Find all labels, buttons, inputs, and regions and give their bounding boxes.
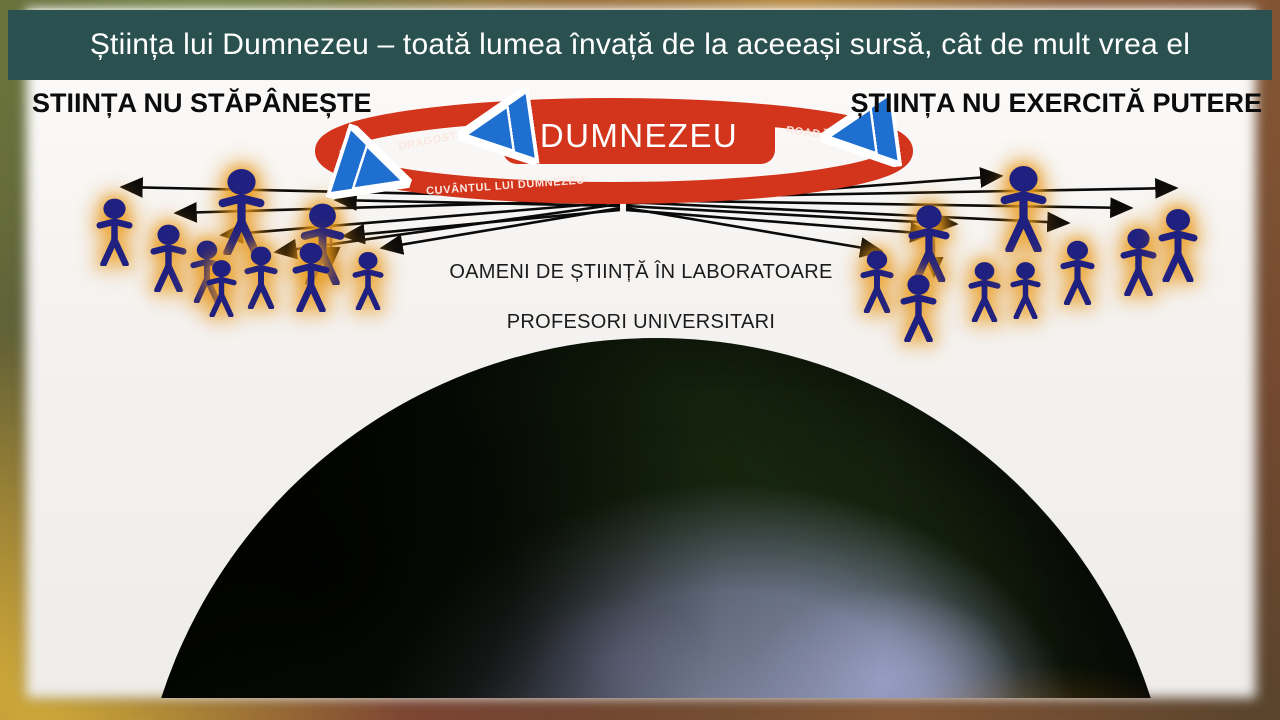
- ring-label-dragostea: DRAGOSTEA: [398, 127, 475, 153]
- dumnezeu-source-label: DUMNEZEU: [503, 108, 775, 164]
- dumnezeu-text: DUMNEZEU: [540, 117, 738, 155]
- ring-label-roada: ROADĂ: [785, 124, 829, 141]
- heading-stiinta-nu-exercita-putere: ȘTIINȚA NU EXERCITĂ PUTERE: [850, 88, 1262, 119]
- stick-figure: [96, 194, 133, 266]
- globe-container: [26, 338, 1256, 698]
- slide-title-text: Știința lui Dumnezeu – toată lumea învaț…: [90, 28, 1190, 62]
- stick-figure: [1120, 224, 1157, 296]
- globe-limb-edge: [136, 338, 1176, 698]
- slide-frame-background: DUMNEZEU DRAGOSTEA ROADĂ CUVÂNTUL LUI DU…: [0, 0, 1280, 720]
- stick-figure: [1000, 160, 1047, 252]
- slide-title-bar: Știința lui Dumnezeu – toată lumea învaț…: [8, 10, 1272, 80]
- caption-professors: PROFESORI UNIVERSITARI: [26, 311, 1256, 334]
- heading-stiinta-nu-stapaneste: STIINȚA NU STĂPÂNEȘTE: [32, 88, 372, 119]
- caption-scientists: OAMENI DE ȘTIINȚĂ ÎN LABORATOARE: [26, 261, 1256, 284]
- ring-label-cuvantul-lui-dumnezeu: CUVÂNTUL LUI DUMNEZEU: [426, 174, 586, 197]
